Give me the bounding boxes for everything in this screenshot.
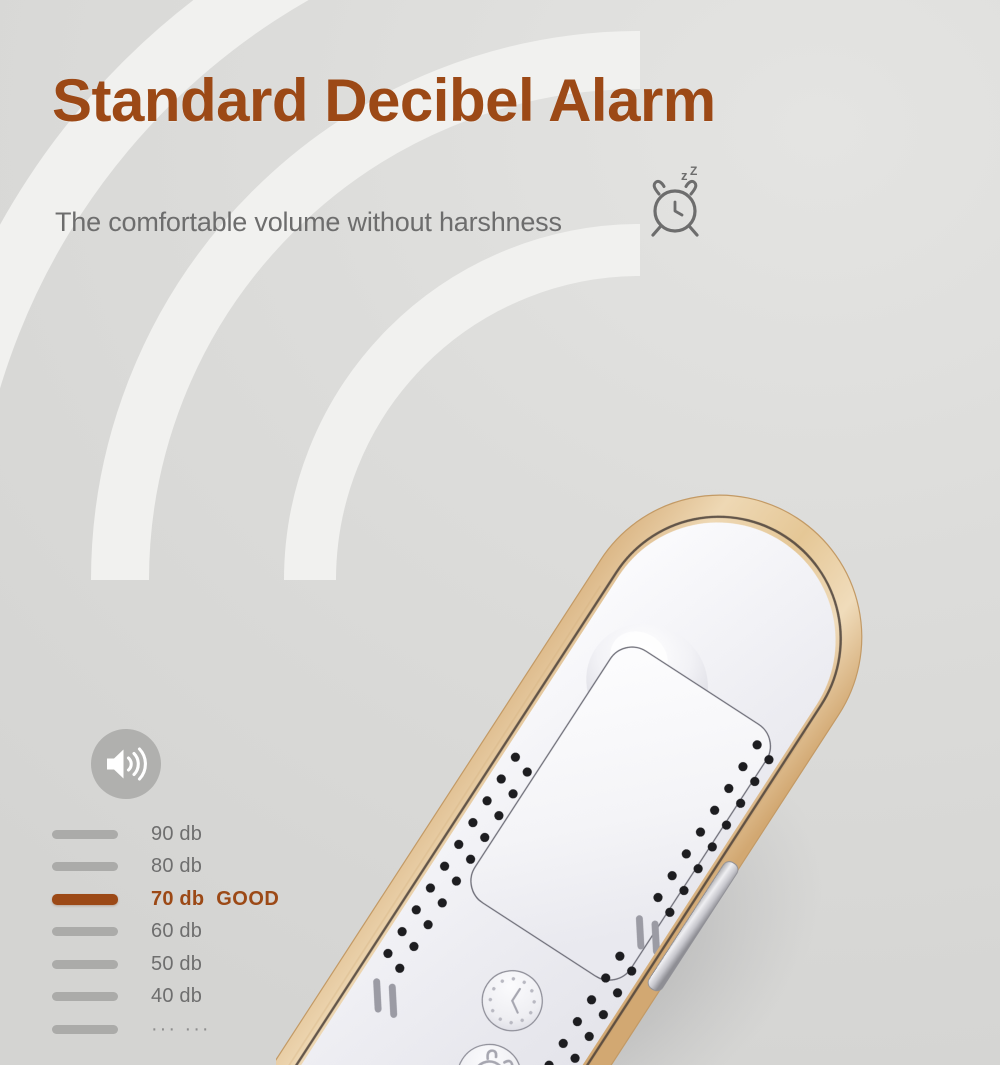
scale-label: 40 db (151, 985, 202, 1008)
scale-label-active: 70 dbGOOD (151, 888, 279, 911)
status-badge: GOOD (216, 888, 279, 910)
svg-text:Z: Z (690, 166, 697, 178)
scale-label: 80 db (151, 855, 202, 878)
speaker-volume-icon (104, 745, 148, 783)
scale-value: 70 db (151, 888, 204, 910)
scale-bar-active (52, 894, 118, 905)
scale-bar (52, 960, 118, 969)
scale-bar (52, 927, 118, 936)
alarm-clock-snooze-icon: z Z (640, 166, 710, 240)
svg-text:z: z (681, 168, 688, 183)
page-title: Standard Decibel Alarm (52, 66, 716, 135)
product-image (276, 486, 1000, 1065)
scale-label-ellipsis: ··· ··· (151, 1018, 211, 1041)
volume-badge (91, 729, 161, 799)
scale-bar (52, 862, 118, 871)
page-subtitle: The comfortable volume without harshness (55, 193, 635, 252)
scale-bar (52, 992, 118, 1001)
scale-label: 90 db (151, 823, 202, 846)
scale-label: 50 db (151, 953, 202, 976)
scale-bar (52, 1025, 118, 1034)
product-banner: Standard Decibel Alarm The comfortable v… (0, 0, 1000, 1065)
scale-label: 60 db (151, 920, 202, 943)
scale-bar (52, 830, 118, 839)
